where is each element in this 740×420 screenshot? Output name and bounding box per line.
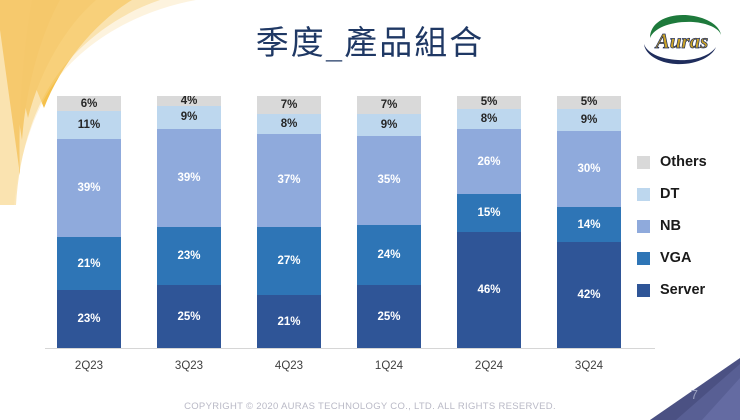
stacked-bar-chart: 6%11%39%21%23%4%9%39%23%25%7%8%37%27%21%… (57, 96, 645, 348)
bar-segment-others: 5% (457, 96, 521, 109)
bar-segment-nb: 37% (257, 134, 321, 227)
slide-canvas: 季度_產品組合 Auras 6%11%39%21%23%4%9%39%23%25… (0, 0, 740, 420)
bar-segment-nb: 39% (57, 139, 121, 237)
bar-segment-others: 6% (57, 96, 121, 111)
bar-column: 7%9%35%24%25% (357, 96, 421, 348)
legend-label: VGA (660, 250, 691, 266)
page-title: 季度_產品組合 (0, 16, 740, 64)
page-number: 7 (691, 387, 698, 402)
legend-swatch-icon (637, 156, 650, 169)
bar-segment-others: 4% (157, 96, 221, 106)
bar-segment-dt: 8% (457, 109, 521, 129)
bar-segment-vga: 21% (57, 237, 121, 290)
bar-segment-vga: 23% (157, 227, 221, 285)
svg-text:Auras: Auras (654, 29, 709, 53)
bar-column: 5%9%30%14%42% (557, 96, 621, 348)
bar-segment-label: 8% (281, 118, 298, 130)
bar-segment-label: 25% (177, 311, 200, 323)
bar-segment-nb: 35% (357, 136, 421, 224)
bar-segment-label: 42% (577, 289, 600, 301)
legend-label: DT (660, 186, 679, 202)
legend-swatch-icon (637, 220, 650, 233)
legend-item-dt[interactable]: DT (637, 178, 737, 210)
bar-segment-label: 4% (181, 96, 198, 106)
x-axis-tick-label: 2Q24 (457, 360, 521, 372)
bar-segment-label: 25% (377, 311, 400, 323)
bar-segment-others: 7% (257, 96, 321, 114)
bar-segment-dt: 9% (557, 109, 621, 132)
bar-segment-label: 9% (581, 114, 598, 126)
bar-segment-label: 35% (377, 174, 400, 186)
bar-segment-label: 30% (577, 163, 600, 175)
legend-item-others[interactable]: Others (637, 146, 737, 178)
legend-label: NB (660, 218, 681, 234)
bar-segment-label: 39% (177, 172, 200, 184)
bar-segment-server: 42% (557, 242, 621, 348)
bar-segment-label: 23% (77, 313, 100, 325)
bar-segment-vga: 14% (557, 207, 621, 242)
bar-segment-label: 46% (477, 284, 500, 296)
copyright-footer: COPYRIGHT © 2020 AURAS TECHNOLOGY CO., L… (0, 401, 740, 412)
bar-segment-label: 7% (381, 99, 398, 111)
bar-segment-nb: 30% (557, 131, 621, 207)
bar-segment-vga: 15% (457, 194, 521, 232)
bar-column: 5%8%26%15%46% (457, 96, 521, 348)
bar-segment-label: 9% (381, 119, 398, 131)
bar-column: 4%9%39%23%25% (157, 96, 221, 348)
auras-logo: Auras (636, 8, 728, 72)
x-axis-tick-label: 3Q23 (157, 360, 221, 372)
bar-segment-others: 7% (357, 96, 421, 114)
bar-segment-label: 5% (481, 96, 498, 108)
bar-segment-server: 23% (57, 290, 121, 348)
legend-item-vga[interactable]: VGA (637, 242, 737, 274)
bar-segment-label: 24% (377, 249, 400, 261)
legend-swatch-icon (637, 252, 650, 265)
bar-segment-server: 46% (457, 232, 521, 348)
bar-segment-dt: 9% (357, 114, 421, 137)
x-axis-tick-label: 2Q23 (57, 360, 121, 372)
bar-segment-label: 37% (277, 174, 300, 186)
legend-item-nb[interactable]: NB (637, 210, 737, 242)
bar-segment-label: 14% (577, 219, 600, 231)
bar-segment-server: 25% (157, 285, 221, 348)
bar-segment-label: 6% (81, 98, 98, 110)
bar-segment-label: 21% (77, 258, 100, 270)
bar-segment-label: 5% (581, 96, 598, 108)
bar-segment-label: 23% (177, 250, 200, 262)
bar-segment-label: 21% (277, 316, 300, 328)
x-axis-labels: 2Q233Q234Q231Q242Q243Q24 (57, 360, 645, 380)
legend-item-server[interactable]: Server (637, 274, 737, 306)
bar-segment-label: 9% (181, 111, 198, 123)
bar-segment-others: 5% (557, 96, 621, 109)
bar-segment-server: 21% (257, 295, 321, 348)
legend-label: Server (660, 282, 705, 298)
bar-segment-nb: 39% (157, 129, 221, 227)
bar-segment-label: 8% (481, 113, 498, 125)
bar-segment-label: 39% (77, 182, 100, 194)
chart-legend: OthersDTNBVGAServer (637, 146, 737, 306)
x-axis-tick-label: 3Q24 (557, 360, 621, 372)
bar-segment-dt: 8% (257, 114, 321, 134)
bar-segment-label: 7% (281, 99, 298, 111)
bar-segment-server: 25% (357, 285, 421, 348)
legend-swatch-icon (637, 284, 650, 297)
x-axis-tick-label: 1Q24 (357, 360, 421, 372)
bar-segment-vga: 27% (257, 227, 321, 295)
x-axis-line (45, 348, 655, 349)
bar-segment-nb: 26% (457, 129, 521, 195)
x-axis-tick-label: 4Q23 (257, 360, 321, 372)
bar-segment-vga: 24% (357, 225, 421, 285)
bar-segment-dt: 11% (57, 111, 121, 139)
bar-column: 7%8%37%27%21% (257, 96, 321, 348)
bar-column: 6%11%39%21%23% (57, 96, 121, 348)
bar-segment-label: 15% (477, 207, 500, 219)
bar-segment-label: 11% (78, 119, 100, 131)
bar-segment-label: 26% (477, 156, 500, 168)
bar-segment-dt: 9% (157, 106, 221, 129)
legend-swatch-icon (637, 188, 650, 201)
legend-label: Others (660, 154, 707, 170)
bar-segment-label: 27% (277, 255, 300, 267)
